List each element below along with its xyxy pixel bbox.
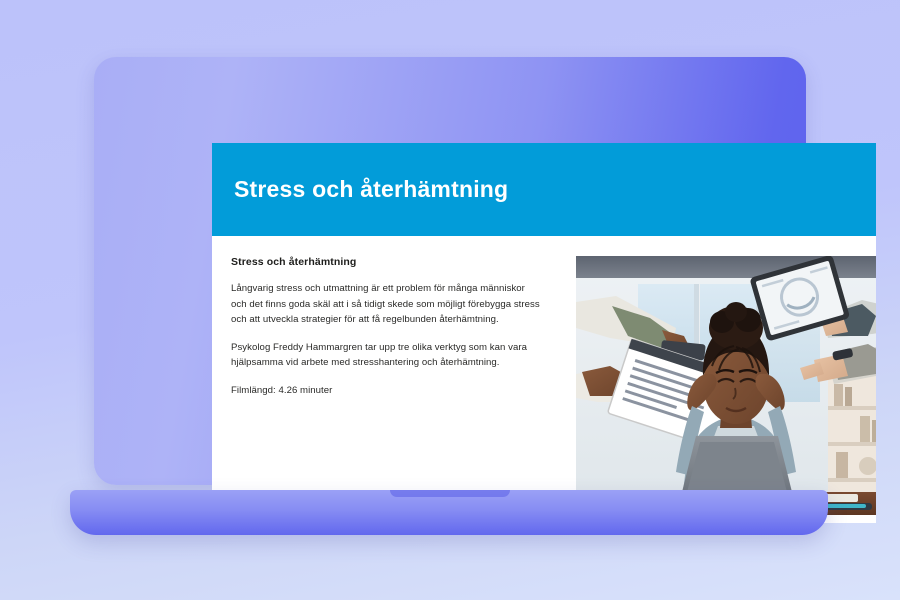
laptop-base-notch — [390, 490, 510, 497]
slide-title: Stress och återhämtning — [234, 176, 508, 203]
laptop-lid: Stress och återhämtning Stress och återh… — [94, 57, 806, 485]
slide-image-column — [557, 236, 876, 523]
laptop-screen: Stress och återhämtning Stress och återh… — [212, 143, 876, 523]
body-heading: Stress och återhämtning — [231, 256, 541, 268]
screenshot-root: Stress och återhämtning Stress och återh… — [0, 0, 900, 600]
presentation-slide: Stress och återhämtning Stress och återh… — [212, 143, 876, 523]
slide-body: Stress och återhämtning Långvarig stress… — [212, 236, 876, 523]
slide-text-column: Stress och återhämtning Långvarig stress… — [212, 236, 557, 523]
stress-photo — [576, 256, 876, 515]
slide-header-band: Stress och återhämtning — [212, 143, 876, 236]
film-duration-text: Filmlängd: 4.26 minuter — [231, 383, 541, 399]
body-paragraph-2: Psykolog Freddy Hammargren tar upp tre o… — [231, 340, 541, 371]
body-paragraph-1: Långvarig stress och utmattning är ett p… — [231, 281, 541, 328]
